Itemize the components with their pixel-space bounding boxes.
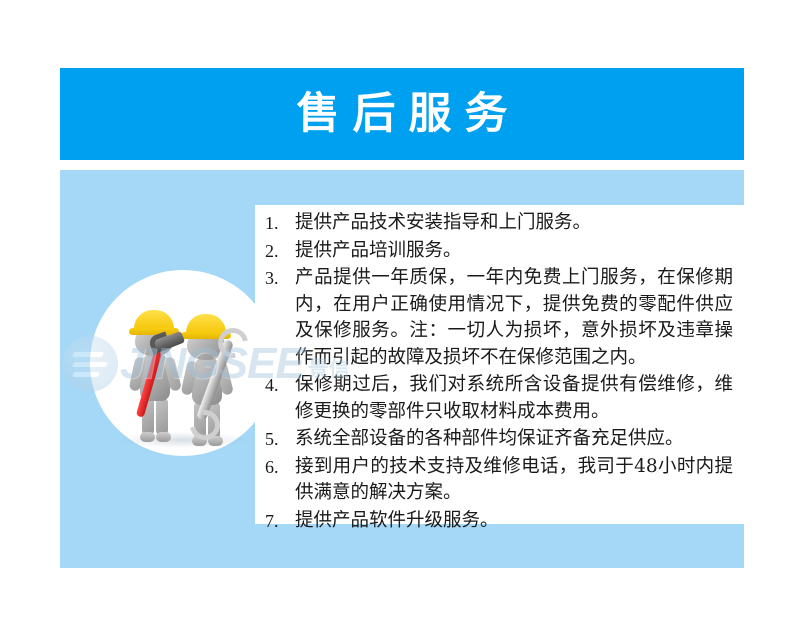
list-item-number: 7. [265,508,295,535]
list-item-number: 6. [265,454,295,481]
page-title: 售后服务 [284,93,521,136]
list-item: 6. 接到用户的技术支持及维修电话，我司于48小时内提供满意的解决方案。 [265,454,733,507]
foot-left [140,432,155,442]
list-item-number: 3. [265,265,295,292]
list-item: 3. 产品提供一年质保，一年内免费上门服务，在保修期内，在用户正确使用情况下，提… [265,265,733,371]
list-item-number: 2. [265,238,295,265]
list-item-text: 系统全部设备的各种部件均保证齐备充足供应。 [295,426,733,453]
list-item-text: 提供产品培训服务。 [295,238,733,265]
list-item: 2. 提供产品培训服务。 [265,238,733,265]
foot-right [156,432,171,442]
hard-hat-icon [186,314,226,336]
leg-right [156,398,168,436]
workers-illustration [104,288,268,448]
service-list: 1. 提供产品技术安装指导和上门服务。 2. 提供产品培训服务。 3. 产品提供… [265,210,733,535]
list-item-text: 提供产品技术安装指导和上门服务。 [295,210,733,237]
list-item-text: 提供产品软件升级服务。 [295,508,733,535]
list-item: 5. 系统全部设备的各种部件均保证齐备充足供应。 [265,426,733,453]
list-item: 7. 提供产品软件升级服务。 [265,508,733,535]
list-item-text: 产品提供一年质保，一年内免费上门服务，在保修期内，在用户正确使用情况下，提供免费… [295,265,733,371]
slide-page: 售后服务 [0,0,803,639]
list-item-number: 1. [265,210,295,237]
header-bar: 售后服务 [60,68,744,160]
list-item-number: 5. [265,426,295,453]
list-item: 1. 提供产品技术安装指导和上门服务。 [265,210,733,237]
list-item-text: 接到用户的技术支持及维修电话，我司于48小时内提供满意的解决方案。 [295,454,733,507]
worker-with-wrench-icon [178,314,240,444]
list-item-number: 4. [265,372,295,399]
list-item: 4. 保修期过后，我们对系统所含设备提供有偿维修，维修更换的零部件只收取材料成本… [265,372,733,425]
hard-hat-icon [134,310,174,332]
list-item-text: 保修期过后，我们对系统所含设备提供有偿维修，维修更换的零部件只收取材料成本费用。 [295,372,733,425]
